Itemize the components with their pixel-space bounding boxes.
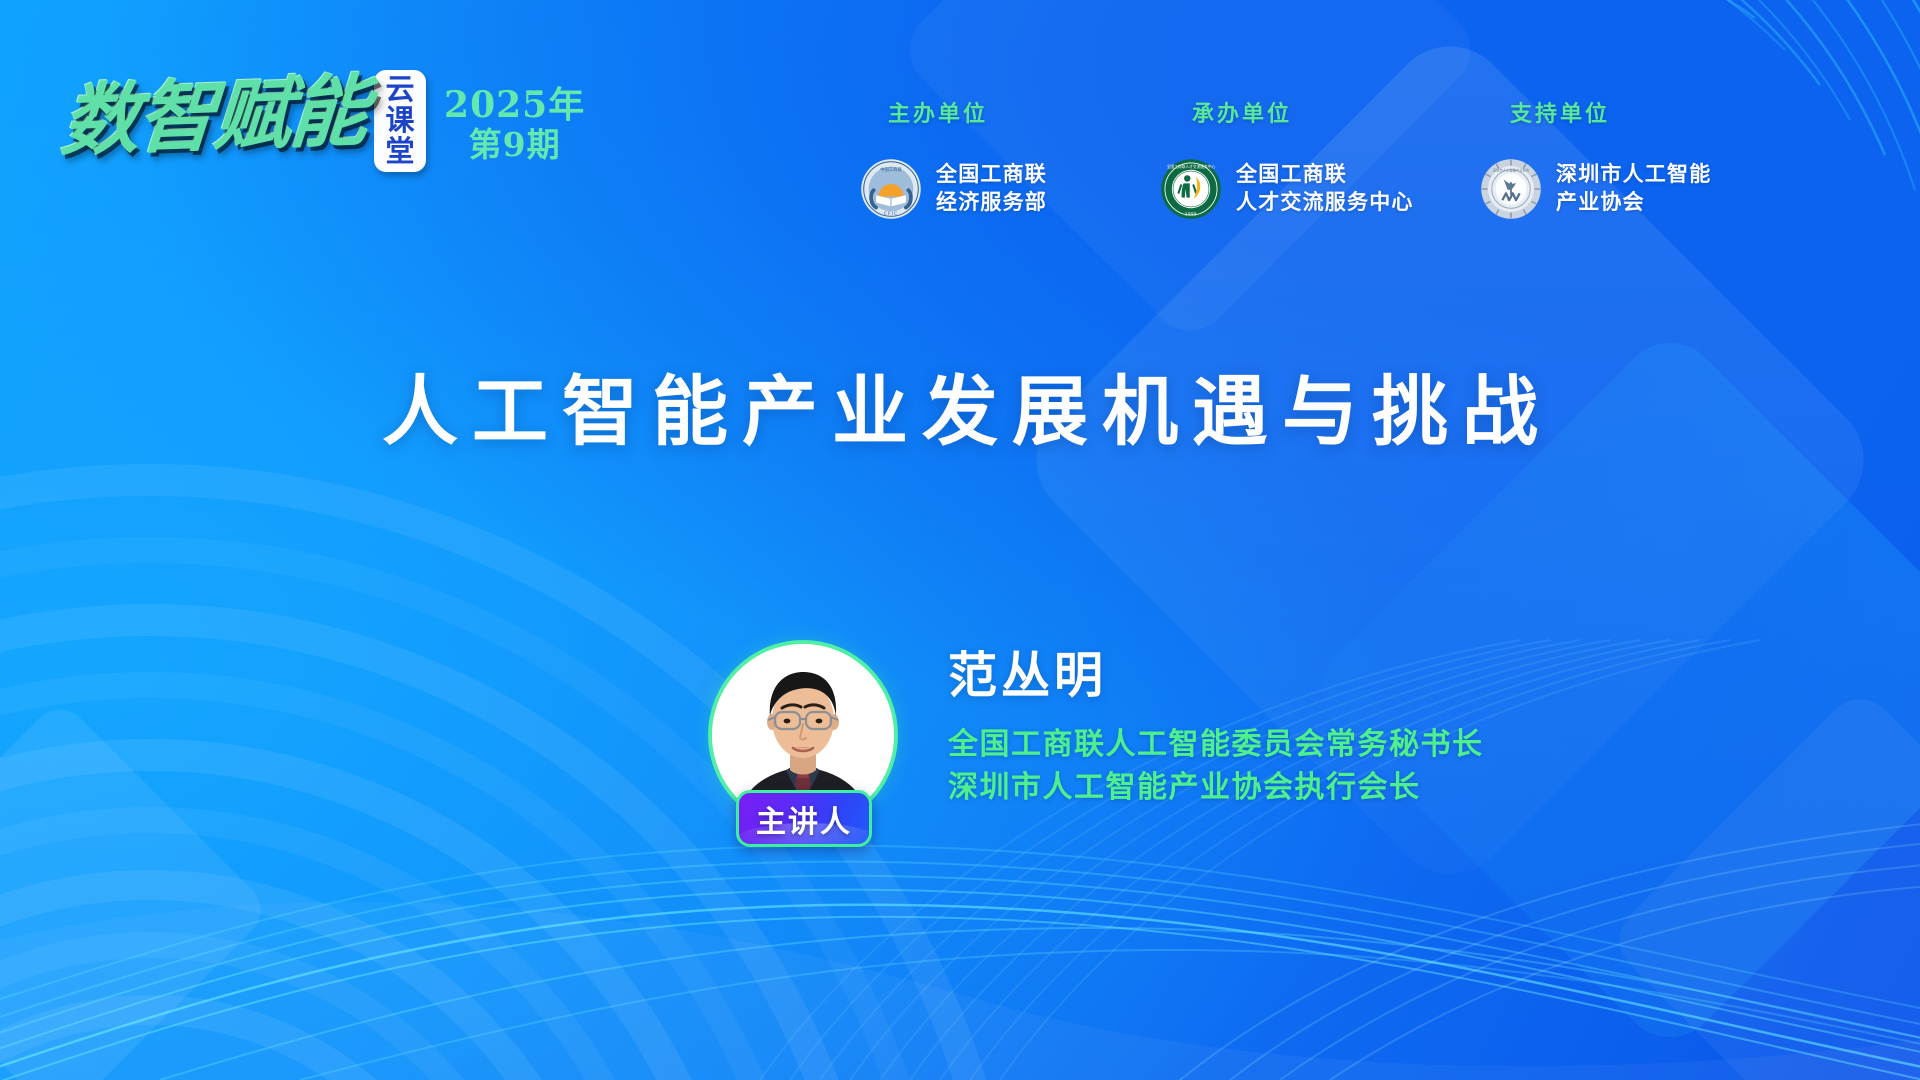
- organizer-coorganizer-name-line-2: 人才交流服务中心: [1236, 189, 1414, 217]
- organizer-host-name-line-2: 经济服务部: [936, 189, 1047, 217]
- speaker-role: 全国工商联人工智能委员会常务秘书长 深圳市人工智能产业协会执行会长: [948, 724, 1484, 809]
- edition-block: 2025年 第9期: [444, 84, 585, 165]
- poster-stage: 数智赋能 云 课 堂 2025年 第9期 主办单位: [0, 0, 1920, 1080]
- speaker-role-line-2: 深圳市人工智能产业协会执行会长: [948, 767, 1484, 810]
- tag-char-1: 云: [386, 75, 415, 106]
- svg-text:深圳市人工智能产业协会: 深圳市人工智能产业协会: [1493, 168, 1530, 173]
- brand-lockup: 数智赋能 云 课 堂 2025年 第9期: [62, 78, 585, 172]
- organizer-coorganizer-name: 全国工商联 人才交流服务中心: [1236, 161, 1414, 217]
- poster-header: 数智赋能 云 课 堂 2025年 第9期 主办单位: [0, 0, 1920, 250]
- speaker-block: 主讲人 范丛明 全国工商联人工智能委员会常务秘书长 深圳市人工智能产业协会执行会…: [708, 640, 1484, 875]
- tag-char-3: 堂: [386, 137, 415, 168]
- organizer-host-name-line-1: 全国工商联: [936, 161, 1047, 189]
- organizer-supporter-name: 深圳市人工智能 产业协会: [1556, 161, 1711, 217]
- organizer-supporter-label: 支持单位: [1510, 96, 1780, 128]
- speaker-badge-label: 主讲人: [756, 797, 852, 841]
- organizer-host-name: 全国工商联 经济服务部: [936, 161, 1047, 217]
- cfic-emblem-logo: 中国工商联 CFIC: [860, 158, 922, 220]
- edition-issue: 第9期: [444, 126, 585, 165]
- organizer-row: 主办单位 中国工商联 CFIC 全国: [860, 96, 1890, 220]
- cloud-classroom-tag: 云 课 堂: [374, 70, 426, 172]
- svg-text:1995: 1995: [1185, 212, 1197, 217]
- talent-exchange-center-logo: 全国工商联人才交流服务中心 1995: [1160, 158, 1222, 220]
- svg-text:CFIC: CFIC: [884, 211, 899, 217]
- edition-year: 2025年: [444, 84, 585, 126]
- speaker-badge: 主讲人: [736, 790, 872, 847]
- organizer-coorganizer-name-line-1: 全国工商联: [1236, 161, 1414, 189]
- organizer-supporter: 支持单位 深圳市人工智能产业协会: [1480, 96, 1780, 220]
- brand-script-title: 数智赋能: [59, 73, 375, 162]
- organizer-host: 主办单位 中国工商联 CFIC 全国: [860, 96, 1160, 220]
- organizer-host-label: 主办单位: [888, 96, 1160, 128]
- organizer-supporter-name-line-1: 深圳市人工智能: [1556, 161, 1711, 189]
- speaker-name: 范丛明: [948, 652, 1484, 701]
- speaker-role-line-1: 全国工商联人工智能委员会常务秘书长: [948, 724, 1484, 767]
- organizer-coorganizer: 承办单位 全国工商联人才交流服务中心 1995: [1160, 96, 1480, 220]
- tag-char-2: 课: [386, 106, 415, 137]
- speaker-info: 范丛明 全国工商联人工智能委员会常务秘书长 深圳市人工智能产业协会执行会长: [948, 640, 1484, 809]
- page-title: 人工智能产业发展机遇与挑战: [0, 375, 1920, 451]
- svg-text:全国工商联人才交流服务中心: 全国工商联人才交流服务中心: [1167, 164, 1216, 169]
- saia-association-logo: 深圳市人工智能产业协会: [1480, 158, 1542, 220]
- organizer-supporter-name-line-2: 产业协会: [1556, 189, 1711, 217]
- avatar-group: 主讲人: [708, 640, 906, 875]
- organizer-coorganizer-label: 承办单位: [1192, 96, 1480, 128]
